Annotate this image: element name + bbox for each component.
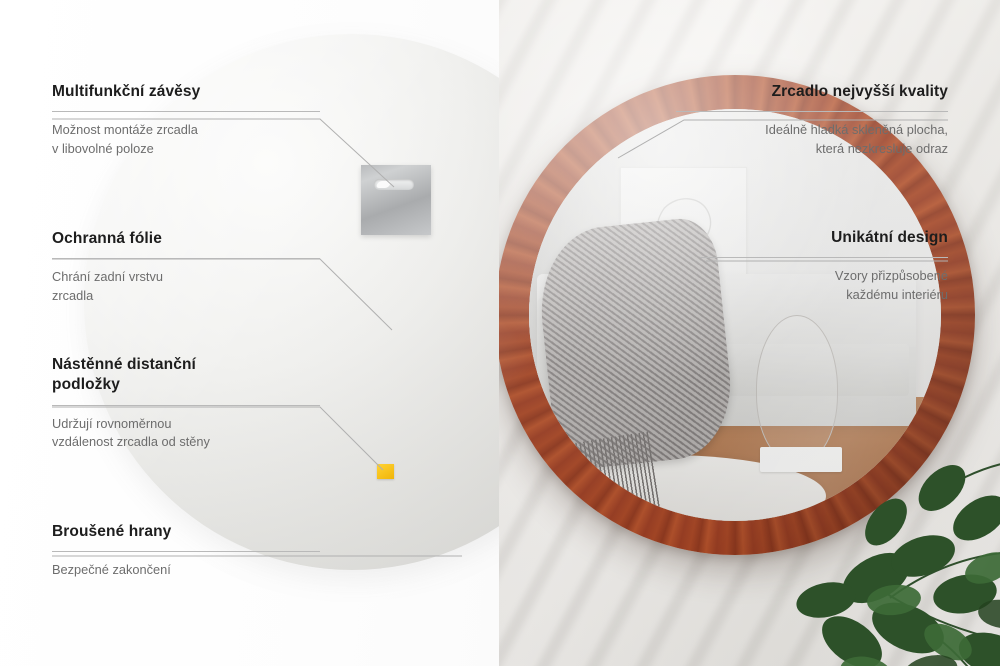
- reflected-arc-lamp: [756, 315, 838, 463]
- callout-rule: [52, 405, 320, 406]
- callout-brousene-hrany: Broušené hrany Bezpečné zakončení: [52, 522, 320, 580]
- callout-description: Možnost montáže zrcadla v libovolné polo…: [52, 121, 320, 157]
- callout-description: Bezpečné zakončení: [52, 561, 320, 579]
- bracket-keyhole-slot: [374, 179, 414, 190]
- callout-ochranna-folie: Ochranná fólie Chrání zadní vrstvu zrcad…: [52, 229, 320, 305]
- callout-unikatni-design: Unikátní design Vzory přizpůsobené každé…: [700, 228, 948, 304]
- callout-multifunkcni-zavesy: Multifunkční závěsy Možnost montáže zrca…: [52, 82, 320, 158]
- callout-zrcadlo-nejvyssi-kvality: Zrcadlo nejvyšší kvality Ideálně hladká …: [676, 82, 948, 158]
- callout-nastenne-distancni-podlozky: Nástěnné distanční podložky Udržují rovn…: [52, 355, 320, 451]
- callout-rule: [52, 551, 320, 552]
- callout-description: Vzory přizpůsobené každému interiéru: [700, 267, 948, 303]
- callout-title: Zrcadlo nejvyšší kvality: [676, 82, 948, 102]
- callout-title: Nástěnné distanční podložky: [52, 355, 320, 396]
- reflected-throw-fringe: [543, 431, 663, 521]
- callout-title: Broušené hrany: [52, 522, 320, 542]
- callout-description: Chrání zadní vrstvu zrcadla: [52, 268, 320, 304]
- callout-rule: [700, 257, 948, 258]
- callout-title: Unikátní design: [700, 228, 948, 248]
- reflected-lamp-base: [760, 447, 842, 472]
- yellow-spacer-pad: [377, 464, 394, 479]
- callout-description: Udržují rovnoměrnou vzdálenost zrcadla o…: [52, 415, 320, 451]
- callout-title: Ochranná fólie: [52, 229, 320, 249]
- callout-description: Ideálně hladká skleněná plocha, která ne…: [676, 121, 948, 157]
- infographic-canvas: Multifunkční závěsy Možnost montáže zrca…: [0, 0, 1000, 666]
- callout-rule: [52, 258, 320, 259]
- callout-rule: [676, 111, 948, 112]
- mirror-glass: [529, 109, 941, 521]
- callout-rule: [52, 111, 320, 112]
- callout-title: Multifunkční závěsy: [52, 82, 320, 102]
- hanging-bracket: [361, 165, 431, 235]
